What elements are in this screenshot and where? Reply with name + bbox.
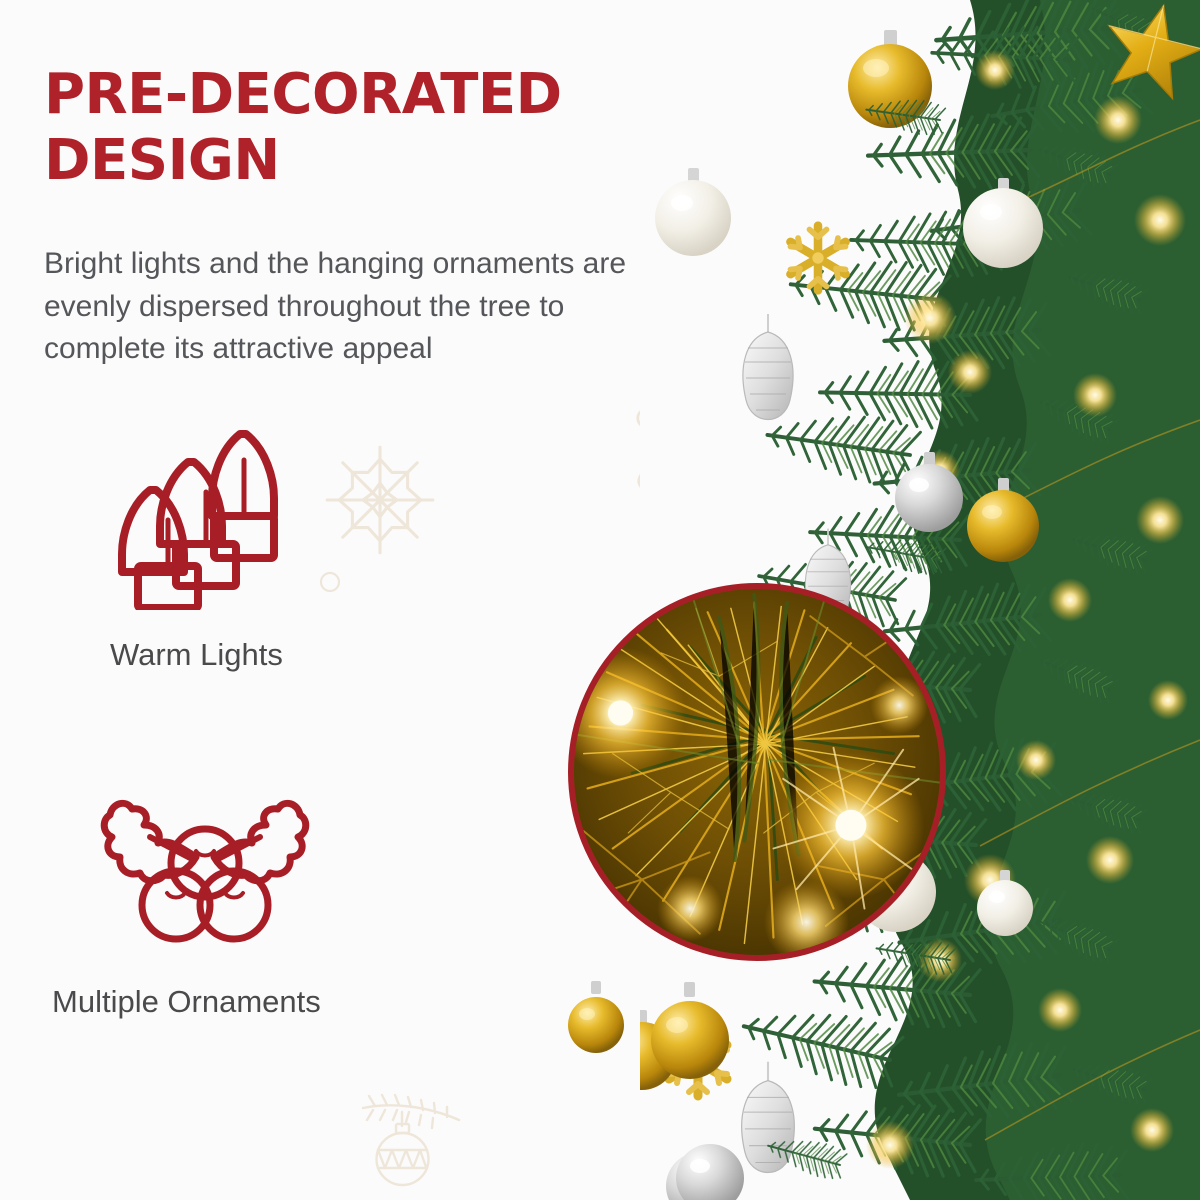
- circle-outline-icon: [318, 570, 342, 594]
- product-feature-banner: PRE-DECORATED DESIGN Bright lights and t…: [0, 0, 1200, 1200]
- feature-warm-lights: Warm Lights: [110, 420, 310, 673]
- feature-multiple-ornaments: Multiple Ornaments: [100, 795, 321, 1020]
- holly-berries-icon: [100, 795, 321, 960]
- page-title: PRE-DECORATED DESIGN: [44, 62, 684, 193]
- detail-zoom-circle: [568, 583, 946, 961]
- subcopy-line-3: complete its attractive appeal: [44, 328, 774, 371]
- gold-bauble: [566, 975, 626, 1055]
- feature-label: Multiple Ornaments: [52, 984, 321, 1020]
- subcopy-line-2: evenly dispersed throughout the tree to: [44, 286, 774, 329]
- feature-label: Warm Lights: [110, 637, 310, 673]
- hanging-bauble-branch-icon: [355, 1090, 485, 1200]
- christmas-bulb-lights-icon: [110, 420, 310, 615]
- description-text: Bright lights and the hanging ornaments …: [44, 243, 774, 371]
- headline-line-1: PRE-DECORATED: [44, 62, 684, 128]
- snowflake-icon: [320, 440, 440, 560]
- headline-line-2: DESIGN: [44, 128, 684, 194]
- subcopy-line-1: Bright lights and the hanging ornaments …: [44, 243, 774, 286]
